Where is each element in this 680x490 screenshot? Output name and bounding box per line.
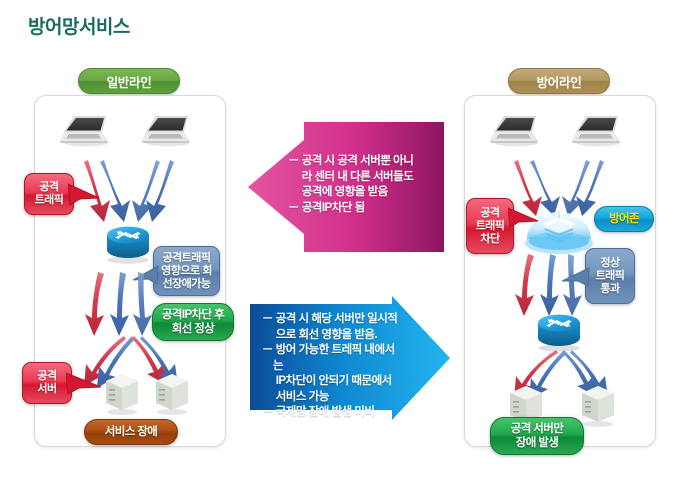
bullet-line: 서비스 가능 xyxy=(262,390,402,406)
magenta-arrow-text: － 공격 시 공격 서버뿐 아니 라 센터 내 다른 서버들도 공격에 영향을 … xyxy=(288,154,438,216)
callout-line: 트래픽 xyxy=(596,270,625,283)
attack-block-callout: 공격 트래픽 차단 xyxy=(466,198,514,254)
callout-line: 공격트래픽 xyxy=(162,252,210,265)
left-panel-header-pill: 일반라인 xyxy=(78,68,180,94)
callout-tail-icon xyxy=(68,182,102,208)
server-icon xyxy=(152,372,192,416)
badge-line: 장애 발생 xyxy=(516,436,559,450)
right-panel-header-label: 방어라인 xyxy=(537,72,582,91)
bullet-line: － 공격IP차단 됨 xyxy=(288,201,438,217)
callout-line: 트래픽 xyxy=(35,194,64,207)
bullet-line: － 공격 시 해당 서버만 일시적 xyxy=(262,312,402,328)
cyan-comparison-arrow: － 공격 시 해당 서버만 일시적 으로 회선 영향을 받음. － 방어 가능한… xyxy=(250,296,450,436)
router-icon xyxy=(532,312,586,352)
callout-tail-icon xyxy=(66,371,104,397)
normal-traffic-callout: 정상 트래픽 통과 xyxy=(585,248,635,304)
laptop-icon xyxy=(140,112,196,148)
bullet-line: － 국제망 장애 발생 미비 xyxy=(262,405,402,421)
callout-line: 통과 xyxy=(600,283,619,296)
diagram-canvas: 방어망서비스 xyxy=(0,0,680,490)
callout-line: 트래픽 xyxy=(476,220,505,233)
callout-line: 공격 xyxy=(480,207,499,220)
laptop-icon xyxy=(488,112,544,148)
badge-line: 서비스 장애 xyxy=(105,425,158,439)
laptop-icon xyxy=(570,112,626,148)
callout-line: 공격 xyxy=(37,370,56,383)
bullet-line: 라 센터 내 다른 서버들도 xyxy=(288,170,438,186)
cyan-arrow-text: － 공격 시 해당 서버만 일시적 으로 회선 영향을 받음. － 방어 가능한… xyxy=(262,312,402,421)
left-panel-header-label: 일반라인 xyxy=(107,72,152,91)
badge-line: 방어존 xyxy=(609,212,639,226)
badge-line: 공격IP차단 후 xyxy=(162,308,224,322)
callout-line: 서버 xyxy=(37,383,56,396)
service-failure-badge: 서비스 장애 xyxy=(84,419,178,445)
callout-line: 차단 xyxy=(480,233,499,246)
server-icon xyxy=(102,372,142,416)
callout-line: 정상 xyxy=(600,257,619,270)
attack-server-callout: 공격 서버 xyxy=(22,362,72,404)
laptop-icon xyxy=(58,112,114,148)
badge-line: 공격 서버만 xyxy=(511,422,564,436)
right-panel-header-pill: 방어라인 xyxy=(508,68,610,94)
callout-line: 공격 xyxy=(39,181,58,194)
bullet-line: 으로 회선 영향을 받음. xyxy=(262,328,402,344)
defense-zone-badge: 방어존 xyxy=(594,206,654,232)
magenta-comparison-arrow: － 공격 시 공격 서버뿐 아니 라 센터 내 다른 서버들도 공격에 영향을 … xyxy=(248,122,444,252)
bullet-line: 공격에 영향을 받음 xyxy=(288,185,438,201)
attack-traffic-callout: 공격 트래픽 xyxy=(24,173,74,215)
bullet-line: － 공격 시 공격 서버뿐 아니 xyxy=(288,154,438,170)
page-title: 방어망서비스 xyxy=(28,12,130,39)
attack-server-only-badge: 공격 서버만 장애 발생 xyxy=(490,417,584,455)
router-icon xyxy=(101,224,155,264)
server-icon xyxy=(578,384,618,428)
callout-tail-icon xyxy=(562,265,590,291)
callout-tail-icon xyxy=(508,206,540,230)
bullet-line: IP차단이 안되기 때문에서 xyxy=(262,374,402,390)
bullet-line: － 방어 가능한 트레픽 내에서는 xyxy=(262,343,402,374)
